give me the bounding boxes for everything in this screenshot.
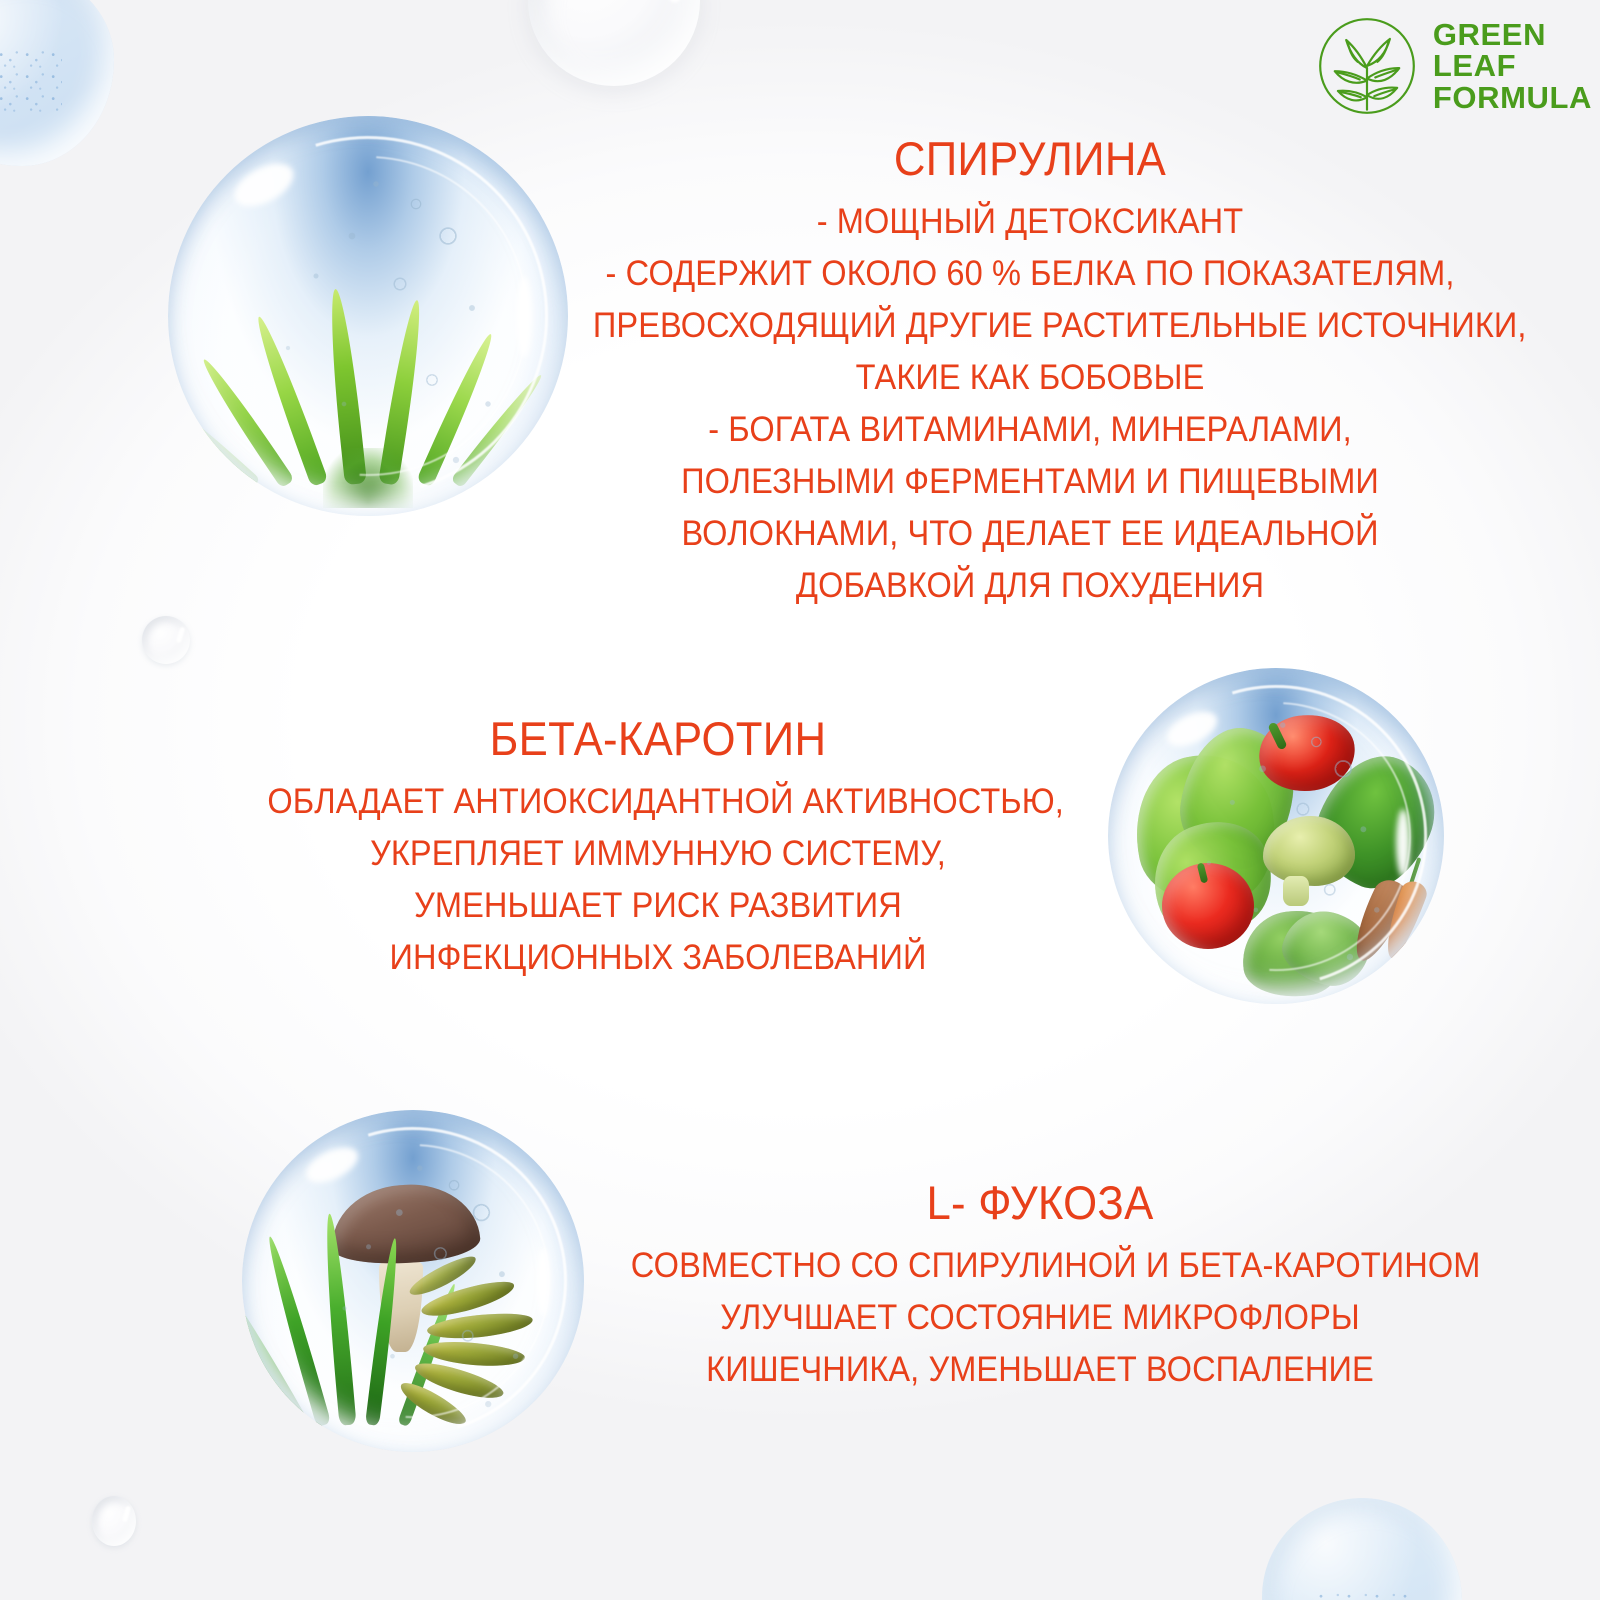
- l-fucose-heading: L- ФУКОЗА: [631, 1178, 1449, 1228]
- spirulina-line-7: ВОЛОКНАМИ, ЧТО ДЕЛАЕТ ЕЕ ИДЕАЛЬНОЙ: [593, 508, 1467, 560]
- blue-gel-blob-top-left: [0, 0, 114, 166]
- green-algae-water-orb-image: [168, 116, 568, 516]
- seaweed-water-orb-image: [242, 1110, 584, 1452]
- blue-gel-blob-bottom-right: [1262, 1498, 1462, 1600]
- vegetables-water-orb-image: [1108, 668, 1444, 1004]
- l-fucose-text-block: L- ФУКОЗА СОВМЕСТНО СО СПИРУЛИНОЙ И БЕТА…: [600, 1178, 1480, 1396]
- brand-logo: GREEN LEAF FORMULA: [1315, 14, 1592, 118]
- spirulina-line-1: - МОЩНЫЙ ДЕТОКСИКАНТ: [593, 196, 1467, 248]
- water-droplet-left: [142, 616, 190, 664]
- water-droplet-top: [528, 0, 700, 86]
- beta-carotene-heading: БЕТА-КАРОТИН: [267, 714, 1048, 764]
- spirulina-line-3: ПРЕВОСХОДЯЩИЙ ДРУГИЕ РАСТИТЕЛЬНЫЕ ИСТОЧН…: [593, 300, 1467, 352]
- logo-line-green: GREEN: [1433, 19, 1592, 51]
- l-fucose-line-2: УЛУЧШАЕТ СОСТОЯНИЕ МИКРОФЛОРЫ: [631, 1292, 1449, 1344]
- leaf-circle-icon: [1315, 14, 1419, 118]
- beta-carotene-line-3: УМЕНЬШАЕТ РИСК РАЗВИТИЯ: [267, 880, 1048, 932]
- beta-carotene-text-block: БЕТА-КАРОТИН ОБЛАДАЕТ АНТИОКСИДАНТНОЙ АК…: [238, 714, 1078, 984]
- beta-carotene-line-1: ОБЛАДАЕТ АНТИОКСИДАНТНОЙ АКТИВНОСТЬЮ,: [267, 776, 1048, 828]
- spirulina-line-8: ДОБАВКОЙ ДЛЯ ПОХУДЕНИЯ: [593, 560, 1467, 612]
- water-droplet-bottom-left: [92, 1496, 136, 1546]
- spirulina-text-block: СПИРУЛИНА - МОЩНЫЙ ДЕТОКСИКАНТ - СОДЕРЖИ…: [560, 134, 1500, 612]
- spirulina-line-6: ПОЛЕЗНЫМИ ФЕРМЕНТАМИ И ПИЩЕВЫМИ: [593, 456, 1467, 508]
- l-fucose-line-3: КИШЕЧНИКА, УМЕНЬШАЕТ ВОСПАЛЕНИЕ: [631, 1344, 1449, 1396]
- spirulina-heading: СПИРУЛИНА: [593, 134, 1467, 184]
- spirulina-line-2: - СОДЕРЖИТ ОКОЛО 60 % БЕЛКА ПО ПОКАЗАТЕЛ…: [593, 248, 1467, 300]
- spirulina-line-4: ТАКИЕ КАК БОБОВЫЕ: [593, 352, 1467, 404]
- spirulina-line-5: - БОГАТА ВИТАМИНАМИ, МИНЕРАЛАМИ,: [593, 404, 1467, 456]
- logo-line-leaf: LEAF: [1433, 50, 1592, 82]
- l-fucose-line-1: СОВМЕСТНО СО СПИРУЛИНОЙ И БЕТА-КАРОТИНОМ: [631, 1240, 1449, 1292]
- logo-line-formula: FORMULA: [1433, 82, 1592, 114]
- beta-carotene-line-4: ИНФЕКЦИОННЫХ ЗАБОЛЕВАНИЙ: [267, 932, 1048, 984]
- ingredients-infographic-page: GREEN LEAF FORMULA: [0, 0, 1600, 1600]
- beta-carotene-line-2: УКРЕПЛЯЕТ ИММУННУЮ СИСТЕМУ,: [267, 828, 1048, 880]
